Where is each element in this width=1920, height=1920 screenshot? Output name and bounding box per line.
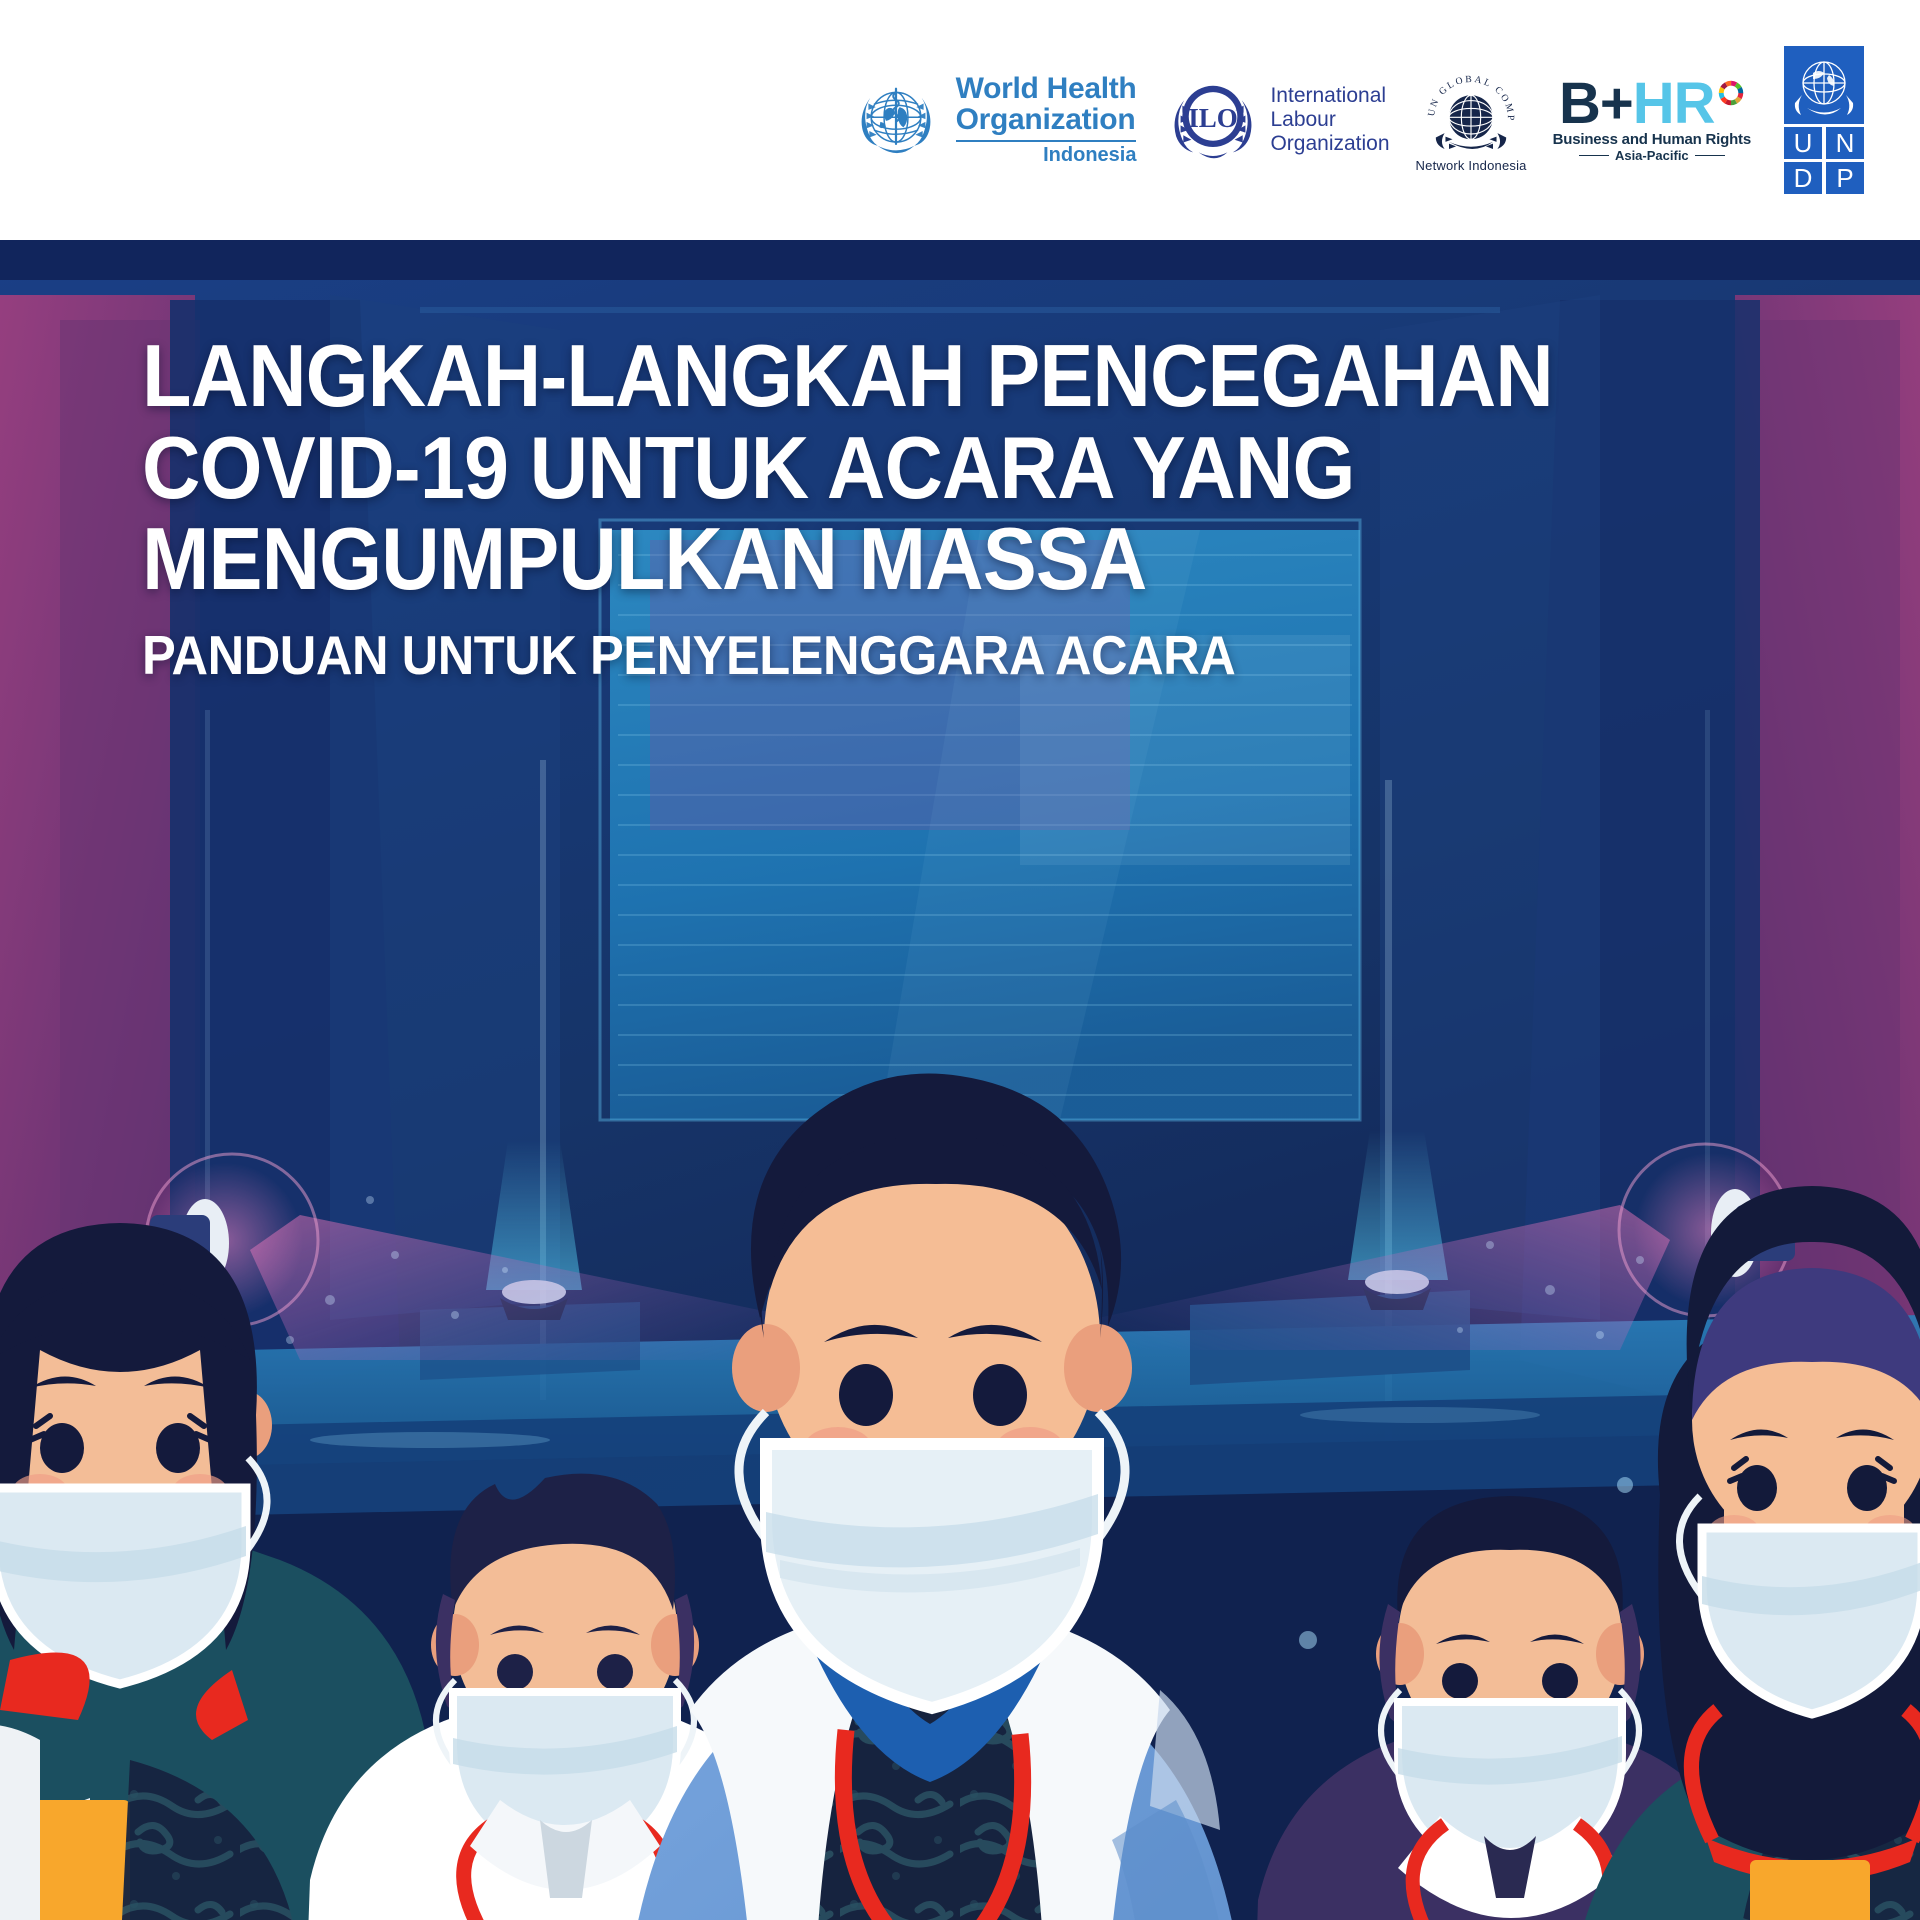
who-logo: World Health Organization Indonesia <box>850 74 1137 166</box>
bhr-caption-2: Asia-Pacific <box>1615 148 1689 163</box>
who-line-2: Organization <box>956 105 1137 136</box>
logo-bar: World Health Organization Indonesia ILO <box>0 0 1920 240</box>
undp-letter-p: P <box>1836 163 1853 193</box>
ungc-emblem-icon: UN GLOBAL COMPACT <box>1422 68 1520 156</box>
undp-letter-n: N <box>1836 128 1855 158</box>
title-subtitle: PANDUAN UNTUK PENYELENGGARA ACARA <box>142 625 1476 686</box>
b-plus-hr-logo: B + HR <box>1553 77 1751 163</box>
bhr-rule-left <box>1579 155 1609 157</box>
bhr-caption-2-row: Asia-Pacific <box>1579 148 1725 163</box>
bhr-caption-1: Business and Human Rights <box>1553 131 1751 148</box>
undp-letter-u: U <box>1794 128 1813 158</box>
undp-letter-d: D <box>1794 163 1813 193</box>
undp-logo: U N D P <box>1783 45 1865 195</box>
ilo-line-2: Labour <box>1270 108 1389 132</box>
title-block: LANGKAH-LANGKAH PENCEGAHAN COVID-19 UNTU… <box>142 330 1592 685</box>
ilo-line-1: International <box>1270 84 1389 108</box>
poster-root: World Health Organization Indonesia ILO <box>0 0 1920 1920</box>
svg-text:ILO: ILO <box>1189 103 1239 133</box>
title-line-3: MENGUMPULKAN MASSA <box>142 513 1476 605</box>
ilo-line-3: Organization <box>1270 132 1389 156</box>
bhr-wordmark: B + HR <box>1559 77 1745 130</box>
title-line-2: COVID-19 UNTUK ACARA YANG <box>142 422 1476 514</box>
who-country: Indonesia <box>956 145 1137 165</box>
who-wordmark: World Health Organization Indonesia <box>956 74 1137 166</box>
who-line-1: World Health <box>956 74 1137 105</box>
ilo-logo: ILO International Labour Organization <box>1168 75 1389 165</box>
undp-emblem-icon: U N D P <box>1783 45 1865 195</box>
ilo-wordmark: International Labour Organization <box>1270 84 1389 156</box>
ungc-caption: Network Indonesia <box>1416 158 1527 173</box>
bhr-rule-right <box>1695 155 1725 157</box>
ilo-emblem-icon: ILO <box>1168 75 1258 165</box>
title-line-1: LANGKAH-LANGKAH PENCEGAHAN <box>142 330 1476 422</box>
bhr-plus: + <box>1600 77 1633 130</box>
bhr-letters-hr: HR <box>1633 77 1715 130</box>
sdg-wheel-icon <box>1717 79 1745 107</box>
un-global-compact-logo: UN GLOBAL COMPACT Netwo <box>1416 68 1527 173</box>
who-emblem-icon <box>850 74 942 166</box>
bhr-letter-b: B <box>1559 77 1600 130</box>
who-divider <box>956 140 1137 142</box>
